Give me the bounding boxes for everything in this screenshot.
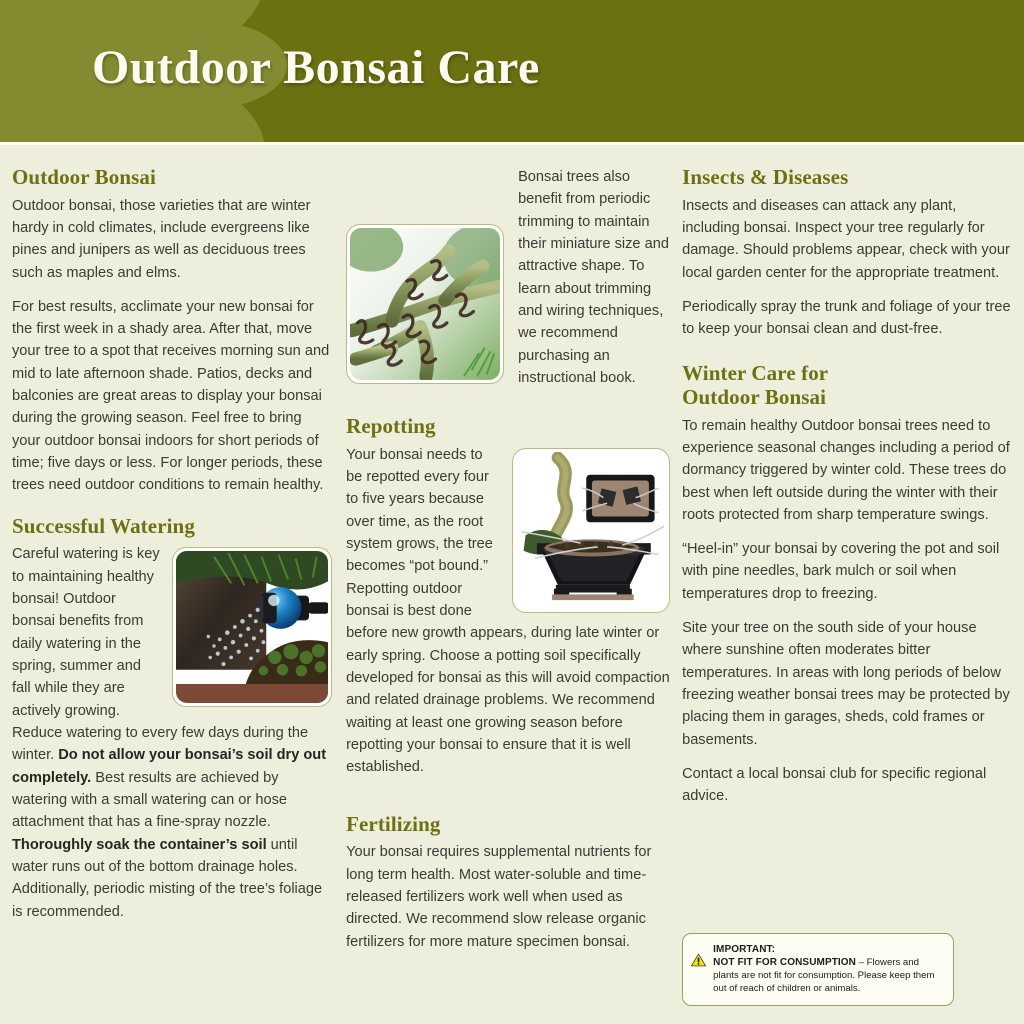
paragraph-winter-4: Contact a local bonsai club for specific… — [682, 763, 1012, 808]
warning-text: IMPORTANT:NOT FIT FOR CONSUMPTION – Flow… — [713, 943, 943, 996]
watering-bold-2: Thoroughly soak the container’s soil — [12, 837, 267, 853]
column-right: Insects & Diseases Insects and diseases … — [682, 166, 1012, 1012]
paragraph-outdoor-bonsai-1: Outdoor bonsai, those varieties that are… — [12, 195, 332, 284]
watering-photo-graphic — [176, 551, 328, 703]
repotting-photo — [512, 448, 670, 613]
section-heading-winter-care: Winter Care forOutdoor Bonsai — [682, 362, 1012, 409]
page-title: Outdoor Bonsai Care — [92, 40, 540, 95]
paragraph-fertilizing: Your bonsai requires supplemental nutrie… — [346, 841, 670, 953]
paragraph-winter-3: Site your tree on the south side of your… — [682, 617, 1012, 751]
warning-box: IMPORTANT:NOT FIT FOR CONSUMPTION – Flow… — [682, 933, 954, 1006]
trimming-photo-graphic — [350, 228, 500, 380]
column-middle: Bonsai trees also benefit from periodic … — [346, 166, 682, 1012]
section-heading-repotting: Repotting — [346, 415, 670, 439]
column-left: Outdoor Bonsai Outdoor bonsai, those var… — [12, 166, 346, 1012]
winter-care-heading-line2: Outdoor Bonsai — [682, 385, 826, 409]
paragraph-outdoor-bonsai-2: For best results, acclimate your new bon… — [12, 296, 332, 497]
trimming-photo — [346, 224, 504, 384]
paragraph-winter-2: “Heel-in” your bonsai by covering the po… — [682, 538, 1012, 605]
warning-line-1: IMPORTANT: — [713, 943, 943, 956]
warning-line-2-bold: NOT FIT FOR CONSUMPTION — [713, 957, 856, 968]
winter-care-heading-line1: Winter Care for — [682, 361, 828, 385]
watering-photo — [172, 547, 332, 707]
section-heading-fertilizing: Fertilizing — [346, 813, 670, 837]
page-header: Outdoor Bonsai Care — [0, 0, 1024, 145]
paragraph-winter-1: To remain healthy Outdoor bonsai trees n… — [682, 415, 1012, 527]
section-heading-successful-watering: Successful Watering — [12, 515, 332, 539]
content-area: Outdoor Bonsai Outdoor bonsai, those var… — [0, 148, 1024, 1012]
brochure-page: Outdoor Bonsai Care Outdoor Bonsai Outdo… — [0, 0, 1024, 1024]
paragraph-insects-2: Periodically spray the trunk and foliage… — [682, 296, 1012, 341]
warning-triangle-icon — [691, 943, 706, 977]
section-heading-insects-diseases: Insects & Diseases — [682, 166, 1012, 190]
section-heading-outdoor-bonsai: Outdoor Bonsai — [12, 166, 332, 190]
paragraph-insects-1: Insects and diseases can attack any plan… — [682, 195, 1012, 284]
header-divider — [0, 142, 1024, 145]
repotting-photo-graphic — [516, 452, 666, 609]
